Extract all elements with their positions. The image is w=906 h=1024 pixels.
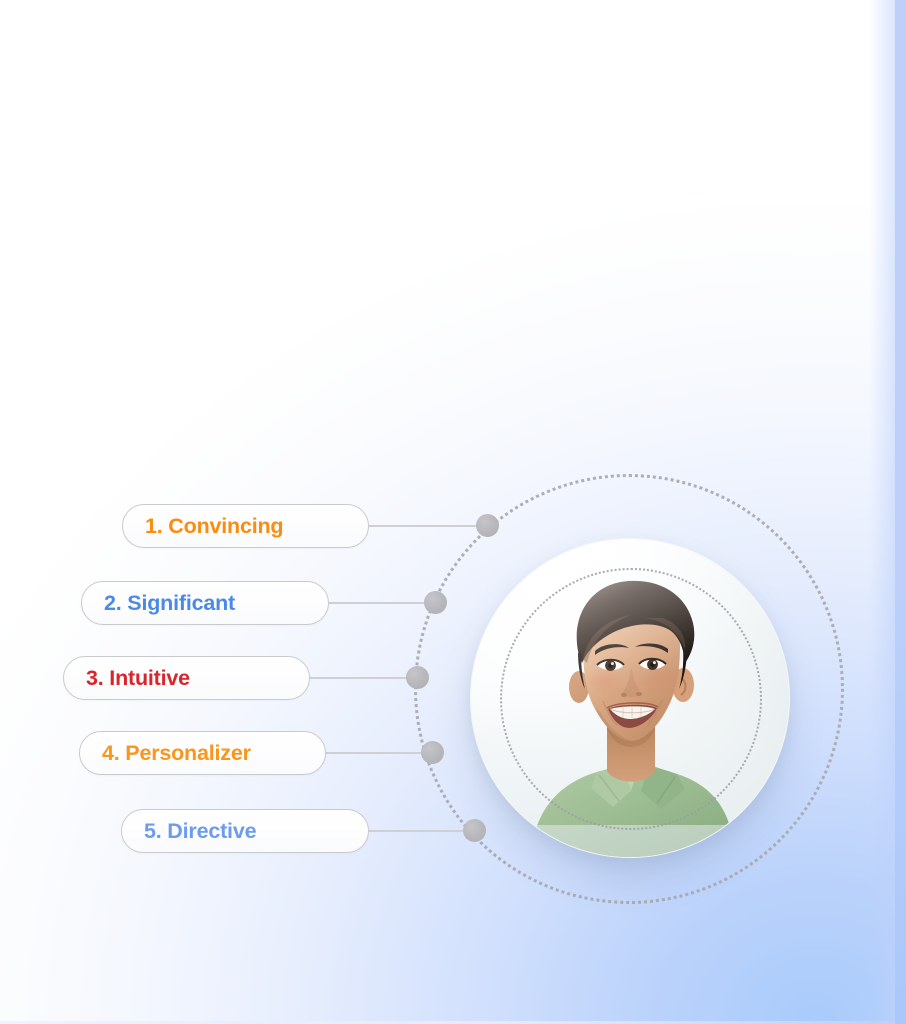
trait-pill-convincing[interactable]: 1. Convincing (122, 504, 369, 548)
node-dot-3[interactable] (406, 666, 429, 689)
node-dot-5[interactable] (463, 819, 486, 842)
inner-dotted-circle (500, 568, 762, 830)
trait-pill-intuitive[interactable]: 3. Intuitive (63, 656, 310, 700)
trait-label-intuitive: 3. Intuitive (86, 666, 190, 691)
trait-label-significant: 2. Significant (104, 591, 235, 616)
node-dot-1[interactable] (476, 514, 499, 537)
trait-label-personalizer: 4. Personalizer (102, 741, 251, 766)
node-dot-4[interactable] (421, 741, 444, 764)
node-dot-2[interactable] (424, 591, 447, 614)
portrait-disc (470, 538, 790, 858)
trait-label-convincing: 1. Convincing (145, 514, 283, 539)
trait-label-directive: 5. Directive (144, 819, 256, 844)
connector-line-1 (368, 525, 490, 527)
connector-line-4 (325, 752, 431, 754)
background-right-strip (895, 0, 906, 1024)
trait-pill-personalizer[interactable]: 4. Personalizer (79, 731, 326, 775)
trait-pill-significant[interactable]: 2. Significant (81, 581, 329, 625)
connector-line-5 (368, 830, 478, 832)
trait-pill-directive[interactable]: 5. Directive (121, 809, 369, 853)
